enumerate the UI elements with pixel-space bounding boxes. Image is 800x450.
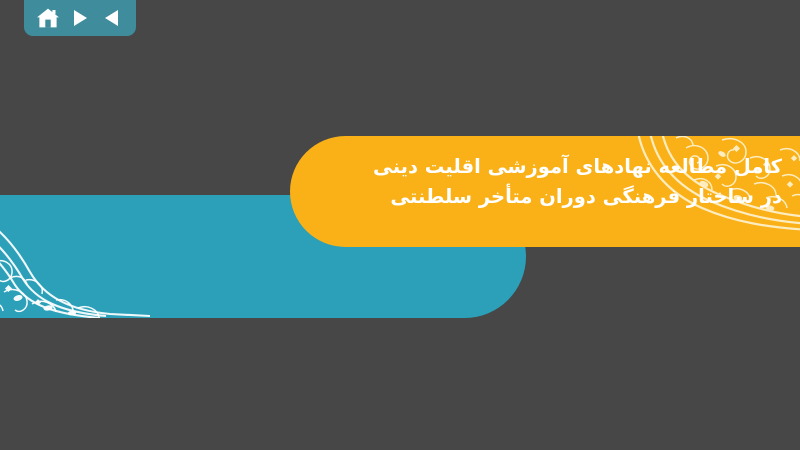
title-line-2: در ساختار فرهنگی دوران متأخر سلطنتی — [322, 182, 782, 212]
triangle-right-icon — [72, 9, 88, 27]
slide-title: کامل مطالعه نهادهای آموزشی اقلیت دینی در… — [322, 152, 782, 212]
slide-navigation-bar — [24, 0, 136, 36]
previous-slide-button[interactable] — [99, 5, 125, 31]
next-slide-button[interactable] — [67, 5, 93, 31]
arabesque-corner-ornament — [0, 200, 150, 318]
title-banner: کامل مطالعه نهادهای آموزشی اقلیت دینی در… — [290, 136, 800, 247]
home-icon — [36, 7, 60, 29]
title-line-1: کامل مطالعه نهادهای آموزشی اقلیت دینی — [322, 152, 782, 182]
triangle-left-icon — [104, 9, 120, 27]
home-slide-button[interactable] — [35, 5, 61, 31]
slide-canvas: کامل مطالعه نهادهای آموزشی اقلیت دینی در… — [0, 0, 800, 450]
